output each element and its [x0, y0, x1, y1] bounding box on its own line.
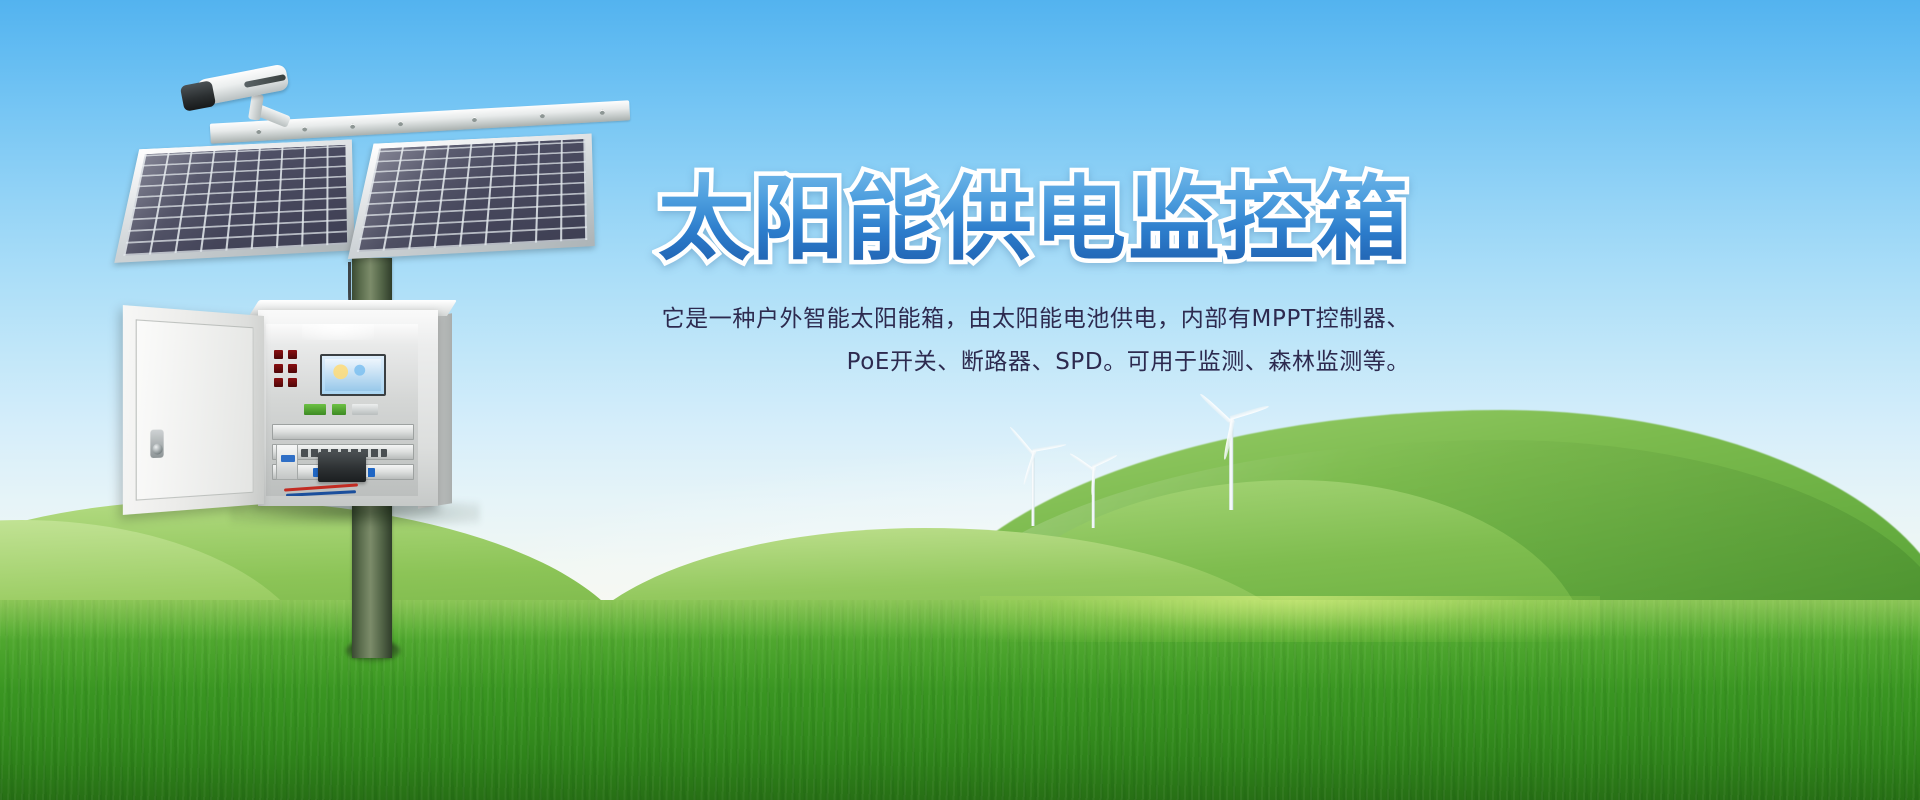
cabinet-interior — [266, 324, 418, 496]
terminal-block — [274, 378, 283, 387]
rail-bolt — [256, 129, 261, 134]
controller-pcb — [304, 404, 326, 415]
wind-turbine-1 — [1018, 450, 1048, 526]
grass-highlight — [0, 600, 1920, 690]
solar-panel-right — [348, 134, 595, 259]
banner-text-block: 太阳能供电监控箱 太阳能供电监控箱 它是一种户外智能太阳能箱，由太阳能电池供电，… — [620, 168, 1410, 383]
panel-glare — [357, 139, 587, 252]
solar-panel-array — [118, 112, 578, 272]
rail-bolt — [540, 113, 545, 118]
display-graphic — [325, 359, 381, 391]
circuit-breaker — [276, 444, 298, 480]
rail-bolt — [472, 117, 477, 122]
controller-pcb — [332, 404, 346, 415]
banner-subtitle: 它是一种户外智能太阳能箱，由太阳能电池供电，内部有MPPT控制器、 PoE开关、… — [620, 298, 1410, 383]
rail-bolt — [398, 121, 403, 126]
grass-sun-glow — [980, 596, 1600, 642]
cabinet-door[interactable] — [123, 305, 264, 515]
mppt-controller-display — [320, 354, 386, 396]
power-wire-blue — [286, 490, 356, 496]
rail-bolt — [350, 124, 355, 129]
security-camera — [172, 66, 302, 128]
subtitle-line-1: 它是一种户外智能太阳能箱，由太阳能电池供电，内部有MPPT控制器、 — [620, 298, 1410, 341]
terminal-block — [288, 364, 297, 373]
page-title: 太阳能供电监控箱 太阳能供电监控箱 — [620, 168, 1410, 272]
product-hero-banner: 太阳能供电监控箱 太阳能供电监控箱 它是一种户外智能太阳能箱，由太阳能电池供电，… — [0, 0, 1920, 800]
subtitle-line-2: PoE开关、断路器、SPD。可用于监测、森林监测等。 — [620, 341, 1410, 384]
controller-pcb — [352, 404, 378, 415]
terminal-block — [288, 378, 297, 387]
wind-turbine-3 — [1214, 418, 1248, 510]
terminal-block — [288, 350, 297, 359]
solar-power-monitoring-cabinet — [118, 310, 454, 518]
poe-switch — [272, 424, 414, 440]
camera-lens-icon — [180, 80, 216, 112]
cabinet-door-inner-panel — [136, 319, 254, 500]
cabinet-lock-icon[interactable] — [150, 429, 163, 458]
terminal-block — [274, 364, 283, 373]
cabinet-interior-light — [302, 324, 374, 340]
headline-fill-layer: 太阳能供电监控箱 — [620, 168, 1410, 271]
rail-bolt — [302, 126, 307, 131]
rail-bolt — [600, 110, 605, 115]
wind-turbine-2 — [1080, 466, 1106, 528]
battery-unit — [318, 452, 366, 482]
panel-glare — [123, 145, 347, 256]
terminal-block — [274, 350, 283, 359]
solar-panel-left — [114, 139, 354, 262]
